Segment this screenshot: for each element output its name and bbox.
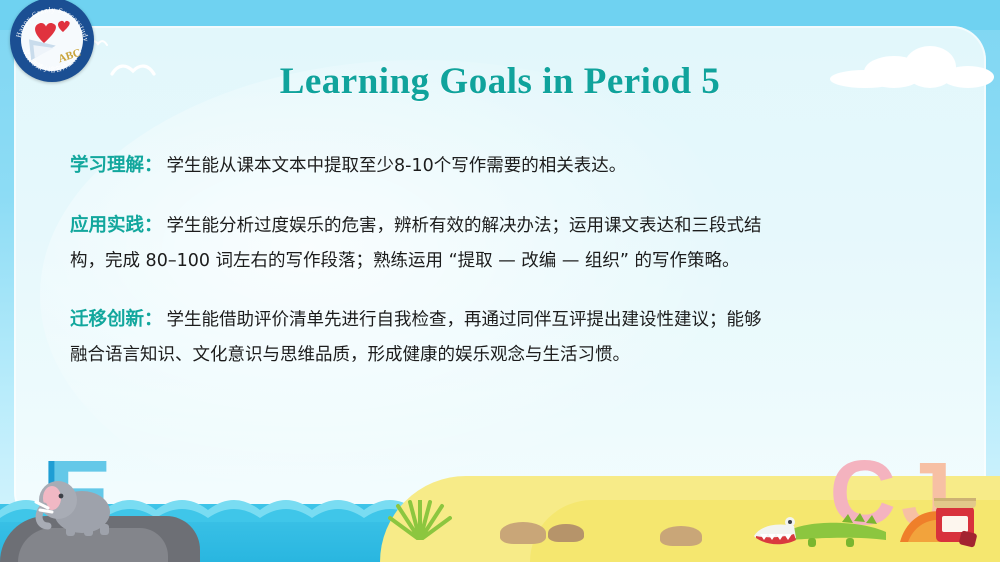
goal-label: 应用实践： (70, 215, 163, 236)
goal-line: 构，完成 80–100 词左右的写作段落；熟练运用 “提取 — 改编 — 组织”… (70, 244, 932, 278)
paper-plane-highlight-icon (33, 43, 54, 58)
goal-line: 融合语言知识、文化意识与思维品质，形成健康的娱乐观念与生活习惯。 (70, 338, 932, 372)
goal-block-3: 迁移创新：学生能借助评价清单先进行自我检查，再通过同伴互评提出建设性建议；能够 … (70, 302, 932, 372)
goals-list: 学习理解：学生能从课本文本中提取至少8-10个写作需要的相关表达。 应用实践：学… (70, 148, 932, 396)
stone (548, 524, 584, 542)
slide-canvas: Happy Cranly Successtudy 某某市某小培名师工作室 ABC… (0, 0, 1000, 562)
goal-block-2: 应用实践：学生能分析过度娱乐的危害，辨析有效的解决办法；运用课文表达和三段式结 … (70, 208, 932, 278)
goal-line: 迁移创新：学生能借助评价清单先进行自我检查，再通过同伴互评提出建设性建议；能够 (70, 302, 932, 338)
grass-icon (388, 500, 452, 540)
goal-line: 学习理解：学生能从课本文本中提取至少8-10个写作需要的相关表达。 (70, 148, 932, 184)
goal-text: 学生能分析过度娱乐的危害，辨析有效的解决办法；运用课文表达和三段式结 (167, 216, 762, 236)
goal-block-1: 学习理解：学生能从课本文本中提取至少8-10个写作需要的相关表达。 (70, 148, 932, 184)
goal-text: 学生能借助评价清单先进行自我检查，再通过同伴互评提出建设性建议；能够 (167, 310, 762, 330)
stone (500, 522, 546, 544)
crocodile-icon (750, 504, 890, 550)
goal-line: 应用实践：学生能分析过度娱乐的危害，辨析有效的解决办法；运用课文表达和三段式结 (70, 208, 932, 244)
jam-jar-icon (898, 486, 978, 548)
heart-icon (32, 18, 72, 44)
bottom-scene: E E C J (0, 442, 1000, 562)
elephant-icon (34, 474, 120, 536)
stone (660, 526, 702, 546)
goal-text: 学生能从课本文本中提取至少8-10个写作需要的相关表达。 (167, 156, 627, 176)
goal-label: 迁移创新： (70, 309, 163, 330)
page-title: Learning Goals in Period 5 (0, 60, 1000, 103)
goal-label: 学习理解： (70, 155, 163, 176)
